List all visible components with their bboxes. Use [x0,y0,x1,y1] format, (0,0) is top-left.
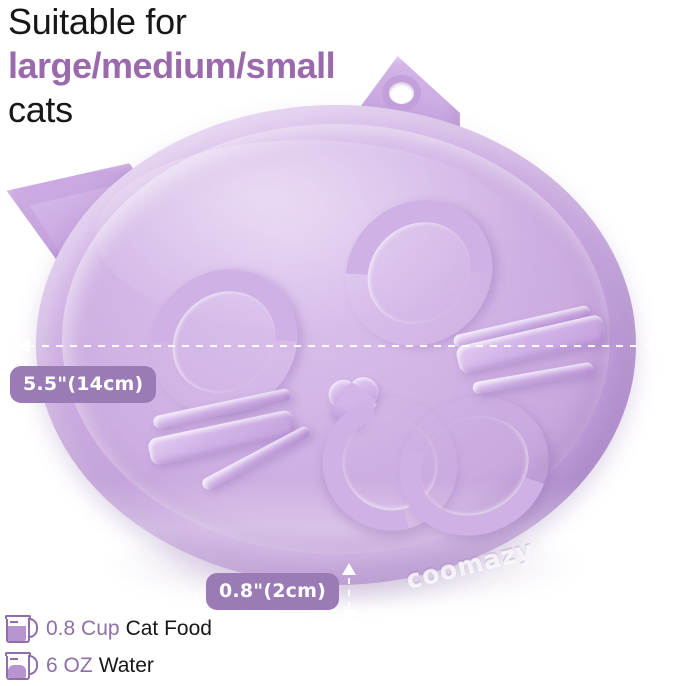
legend-label-water: Water [99,654,154,678]
capacity-legend: 0.8 Cup Cat Food 6 OZ Water [6,612,212,686]
headline-line-1: Suitable for [8,0,508,44]
legend-amount-cat-food: 0.8 Cup [46,617,120,641]
legend-row-cat-food: 0.8 Cup Cat Food [6,612,212,646]
legend-amount-water: 6 OZ [46,654,93,678]
cup-tick [10,621,18,623]
measuring-cup-icon [6,652,39,680]
cup-handle [28,655,38,675]
cup-fill [8,665,26,678]
width-dimension-line [0,345,679,347]
height-arrow-up-icon [342,563,356,575]
headline-line-3: cats [8,88,508,132]
headline-line-2: large/medium/small [8,44,508,88]
headline-block: Suitable for large/medium/small cats [8,0,508,132]
cup-handle [28,618,38,638]
legend-label-cat-food: Cat Food [126,617,212,641]
height-arrow-down-icon [342,610,356,622]
measuring-cup-icon [6,615,39,643]
width-arrow-right-icon [649,339,663,353]
legend-row-water: 6 OZ Water [6,649,212,683]
width-arrow-left-icon [16,339,30,353]
height-dimension-badge: 0.8"(2cm) [206,573,339,610]
cup-tick [10,658,18,660]
width-dimension-badge: 5.5"(14cm) [10,366,156,403]
cup-fill [8,626,26,641]
